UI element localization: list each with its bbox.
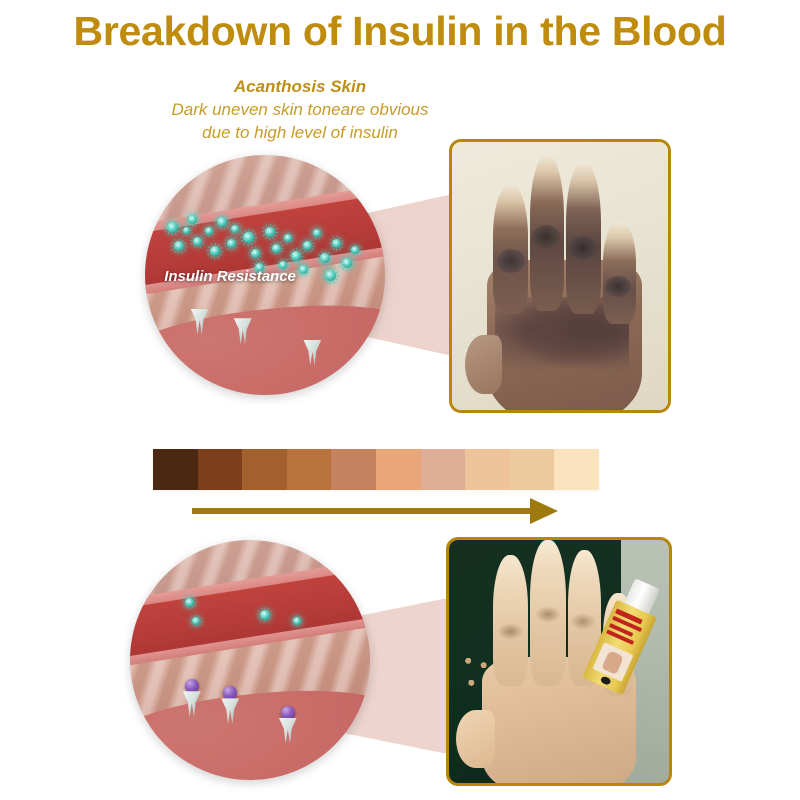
receptor-bound-insulin xyxy=(223,686,237,700)
insulin-molecule xyxy=(293,617,301,625)
insulin-molecule xyxy=(272,244,281,253)
photo-content xyxy=(449,540,669,783)
tone-swatch xyxy=(331,449,376,490)
acanthosis-hand-photo xyxy=(449,139,671,413)
caption-line-1: Dark uneven skin toneare obvious xyxy=(40,98,560,121)
insulin-molecule xyxy=(183,227,190,234)
insulin-molecule xyxy=(260,610,270,620)
receptor-funnel xyxy=(183,691,201,717)
caption-heading: Acanthosis Skin xyxy=(40,76,560,98)
insulin-molecule xyxy=(265,227,275,237)
poster-canvas: Breakdown of Insulin in the Blood Acanth… xyxy=(0,0,800,800)
insulin-molecule xyxy=(320,253,330,263)
knuckle-crease xyxy=(497,623,523,640)
knuckle-crease xyxy=(535,606,561,623)
tone-swatch xyxy=(287,449,332,490)
insulin-normal-diagram xyxy=(130,540,370,780)
insulin-receptor xyxy=(234,318,252,344)
insulin-molecule xyxy=(185,598,194,607)
insulin-molecule xyxy=(284,234,292,242)
insulin-molecule xyxy=(193,237,202,246)
tone-swatch xyxy=(376,449,421,490)
insulin-receptor xyxy=(191,309,209,335)
receptor-funnel xyxy=(234,318,252,344)
tone-swatch xyxy=(242,449,287,490)
insulin-molecule xyxy=(332,239,341,248)
insulin-molecule xyxy=(291,251,301,261)
insulin-molecule xyxy=(227,239,236,248)
insulin-molecule xyxy=(243,232,254,243)
caption-block: Acanthosis Skin Dark uneven skin toneare… xyxy=(40,76,560,144)
receptor-funnel xyxy=(191,309,209,335)
insulin-molecule xyxy=(342,258,352,268)
knuckle-crease xyxy=(570,613,596,630)
diagram-layers xyxy=(130,540,370,780)
receptor-bound-insulin xyxy=(185,679,199,693)
label-hand-icon xyxy=(593,642,634,681)
little-finger xyxy=(603,222,635,324)
skin-tone-gradient-bar xyxy=(153,449,599,490)
insulin-molecule xyxy=(251,249,260,258)
receptor-funnel xyxy=(279,718,297,744)
tone-swatch xyxy=(198,449,243,490)
photo-content xyxy=(452,142,668,410)
insulin-molecule xyxy=(313,229,321,237)
progress-arrow xyxy=(190,496,560,526)
tone-swatch xyxy=(153,449,198,490)
insulin-molecule xyxy=(325,270,336,281)
page-title: Breakdown of Insulin in the Blood xyxy=(0,8,800,55)
insulin-molecule xyxy=(299,265,308,274)
insulin-resistance-label: Insulin Resistance xyxy=(164,268,296,285)
tone-swatch xyxy=(465,449,510,490)
insulin-molecule xyxy=(205,227,213,235)
knuckle-patch xyxy=(532,225,560,249)
insulin-receptor xyxy=(279,718,297,744)
index-finger xyxy=(493,555,528,686)
tone-swatch xyxy=(554,449,599,490)
insulin-molecule xyxy=(210,246,220,256)
receptor-funnel xyxy=(303,340,321,366)
thumb xyxy=(465,335,502,394)
insulin-molecule xyxy=(303,241,312,250)
insulin-molecule xyxy=(351,246,359,254)
tone-swatch xyxy=(510,449,555,490)
thumb xyxy=(456,710,496,768)
insulin-receptor xyxy=(303,340,321,366)
insulin-molecule xyxy=(174,241,184,251)
insulin-molecule xyxy=(188,215,197,224)
insulin-receptor xyxy=(183,691,201,717)
treated-hand-photo xyxy=(446,537,672,786)
receptor-funnel xyxy=(221,698,239,724)
insulin-molecule xyxy=(217,217,227,227)
insulin-receptor xyxy=(221,698,239,724)
knuckle-patch xyxy=(569,236,597,260)
insulin-molecule xyxy=(167,222,178,233)
diagram-layers: Insulin Resistance xyxy=(145,155,385,395)
tone-swatch xyxy=(421,449,466,490)
insulin-molecule xyxy=(192,617,200,625)
insulin-resistance-diagram: Insulin Resistance xyxy=(145,155,385,395)
receptor-bound-insulin xyxy=(281,706,295,720)
insulin-molecule xyxy=(231,225,239,233)
